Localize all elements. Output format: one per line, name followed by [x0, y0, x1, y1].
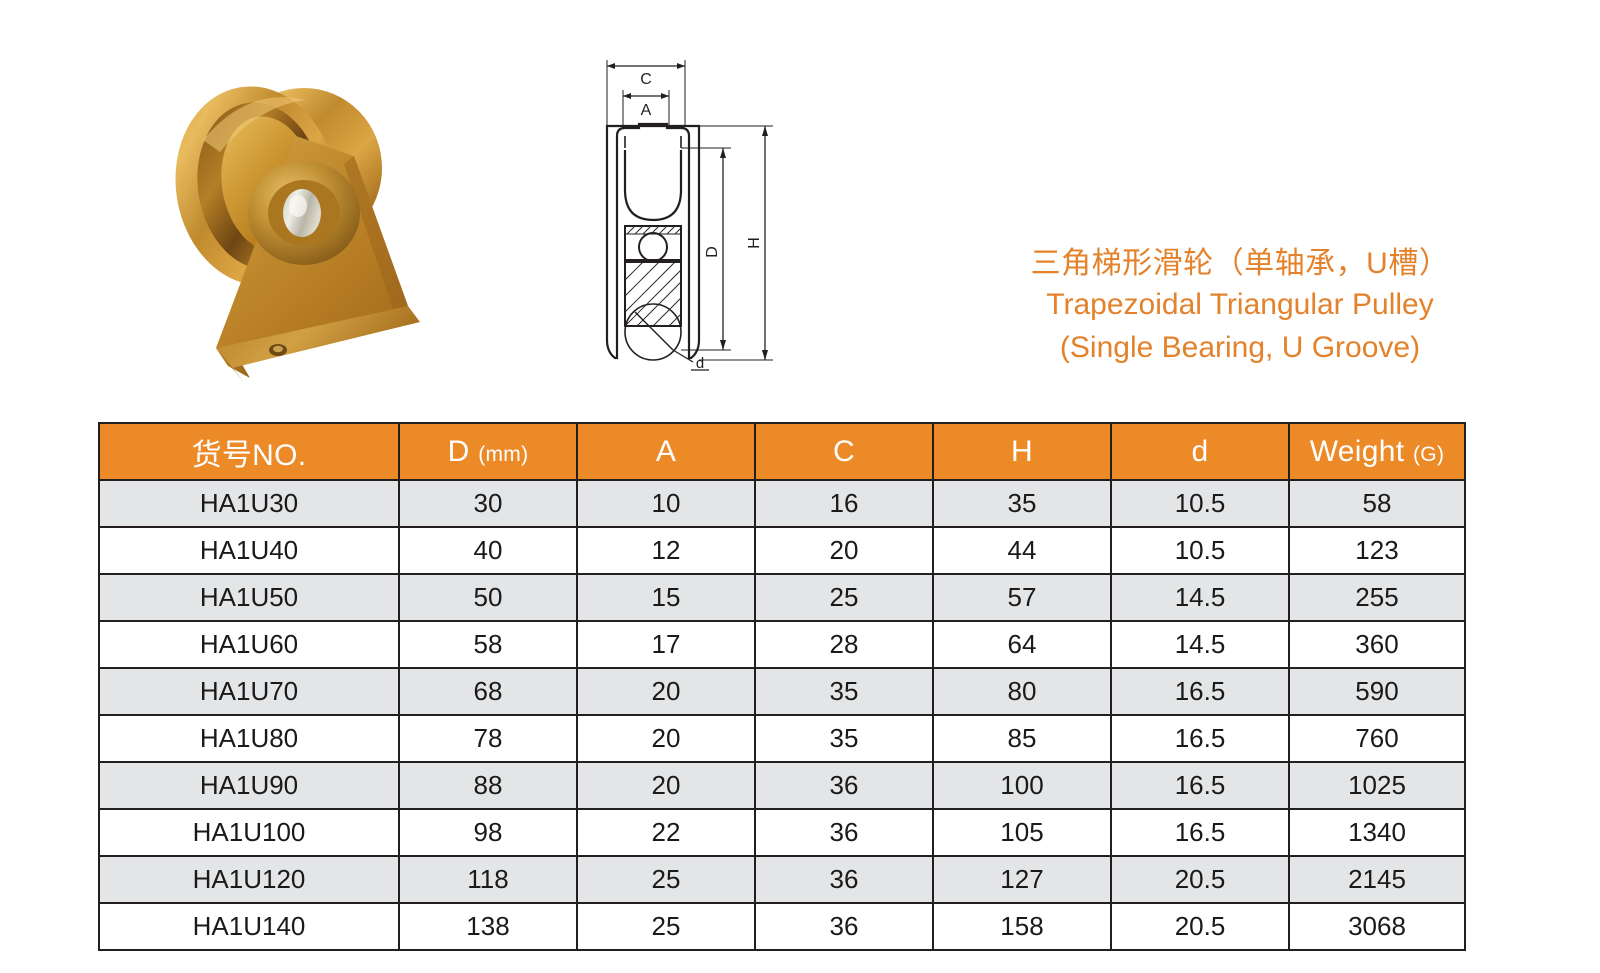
- cell-d: 16.5: [1111, 715, 1289, 762]
- dim-label-a: A: [641, 102, 652, 119]
- bore-circle: [625, 304, 681, 360]
- cell-weight: 1025: [1289, 762, 1465, 809]
- cell-A: 15: [577, 574, 755, 621]
- cell-weight: 360: [1289, 621, 1465, 668]
- cell-part-no: HA1U60: [99, 621, 399, 668]
- cell-d: 16.5: [1111, 668, 1289, 715]
- cell-H: 44: [933, 527, 1111, 574]
- technical-drawing: C A: [565, 40, 795, 395]
- product-title-block: 三角梯形滑轮（单轴承，U槽） Trapezoidal Triangular Pu…: [940, 243, 1540, 370]
- cell-H: 158: [933, 903, 1111, 950]
- cell-H: 85: [933, 715, 1111, 762]
- cell-H: 64: [933, 621, 1111, 668]
- cell-d: 20.5: [1111, 856, 1289, 903]
- c-arrow-right: [677, 63, 685, 69]
- hub-hatch-lines: [625, 262, 681, 326]
- dim-label-c: C: [640, 71, 652, 88]
- table-row: HA1U60 58 17 28 64 14.5 360: [99, 621, 1465, 668]
- d-arrow-top: [720, 148, 726, 158]
- bearing-outer-race: [625, 226, 681, 260]
- d-arrow-bottom: [720, 340, 726, 350]
- table-row: HA1U80 78 20 35 85 16.5 760: [99, 715, 1465, 762]
- col-header-D: D (mm): [399, 423, 577, 480]
- product-photo: [108, 48, 448, 388]
- ball-bearing: [639, 233, 667, 261]
- cell-D: 88: [399, 762, 577, 809]
- cell-part-no: HA1U120: [99, 856, 399, 903]
- c-arrow-left: [607, 63, 615, 69]
- product-title-english-line1: Trapezoidal Triangular Pulley: [940, 284, 1540, 327]
- cell-part-no: HA1U90: [99, 762, 399, 809]
- cell-C: 36: [755, 903, 933, 950]
- cell-C: 36: [755, 856, 933, 903]
- cell-H: 127: [933, 856, 1111, 903]
- cell-C: 35: [755, 668, 933, 715]
- cell-A: 25: [577, 856, 755, 903]
- cell-D: 30: [399, 480, 577, 527]
- table-body: HA1U30 30 10 16 35 10.5 58 HA1U40 40 12 …: [99, 480, 1465, 950]
- cell-H: 105: [933, 809, 1111, 856]
- cell-d: 20.5: [1111, 903, 1289, 950]
- groove-walls: [625, 136, 681, 148]
- mounting-hole-inner: [273, 346, 283, 352]
- cell-D: 68: [399, 668, 577, 715]
- cell-A: 25: [577, 903, 755, 950]
- col-header-d: d: [1111, 423, 1289, 480]
- cell-D: 138: [399, 903, 577, 950]
- cell-A: 20: [577, 762, 755, 809]
- cell-H: 35: [933, 480, 1111, 527]
- table-row: HA1U120 118 25 36 127 20.5 2145: [99, 856, 1465, 903]
- cell-part-no: HA1U30: [99, 480, 399, 527]
- product-title-english-line2: (Single Bearing, U Groove): [940, 327, 1540, 370]
- col-header-weight: Weight (G): [1289, 423, 1465, 480]
- cell-d: 10.5: [1111, 527, 1289, 574]
- cell-d: 14.5: [1111, 621, 1289, 668]
- cell-d: 16.5: [1111, 762, 1289, 809]
- cell-d: 16.5: [1111, 809, 1289, 856]
- cell-C: 36: [755, 762, 933, 809]
- table-row: HA1U70 68 20 35 80 16.5 590: [99, 668, 1465, 715]
- cell-D: 78: [399, 715, 577, 762]
- cell-A: 20: [577, 715, 755, 762]
- cell-D: 98: [399, 809, 577, 856]
- table-row: HA1U140 138 25 36 158 20.5 3068: [99, 903, 1465, 950]
- cell-part-no: HA1U40: [99, 527, 399, 574]
- table-header-row: 货号NO. D (mm) A C H d Weight (G): [99, 423, 1465, 480]
- col-header-part-no: 货号NO.: [99, 423, 399, 480]
- specification-table-container: 货号NO. D (mm) A C H d Weight (G) HA1U30 3…: [98, 422, 1464, 951]
- cell-C: 20: [755, 527, 933, 574]
- cell-part-no: HA1U80: [99, 715, 399, 762]
- a-arrow-right: [661, 93, 669, 99]
- cell-part-no: HA1U100: [99, 809, 399, 856]
- cell-C: 28: [755, 621, 933, 668]
- table-row: HA1U100 98 22 36 105 16.5 1340: [99, 809, 1465, 856]
- col-header-H: H: [933, 423, 1111, 480]
- col-header-C: C: [755, 423, 933, 480]
- dim-label-D: D: [704, 246, 721, 258]
- cell-H: 80: [933, 668, 1111, 715]
- cell-D: 50: [399, 574, 577, 621]
- cell-weight: 760: [1289, 715, 1465, 762]
- cell-A: 12: [577, 527, 755, 574]
- cell-C: 16: [755, 480, 933, 527]
- cell-A: 20: [577, 668, 755, 715]
- table-row: HA1U40 40 12 20 44 10.5 123: [99, 527, 1465, 574]
- cell-D: 58: [399, 621, 577, 668]
- cell-d: 14.5: [1111, 574, 1289, 621]
- cell-C: 35: [755, 715, 933, 762]
- dim-label-d: d: [696, 355, 704, 372]
- cell-C: 25: [755, 574, 933, 621]
- cell-A: 22: [577, 809, 755, 856]
- cell-part-no: HA1U140: [99, 903, 399, 950]
- cell-weight: 1340: [1289, 809, 1465, 856]
- product-overview-section: C A: [0, 0, 1600, 412]
- bore-diameter-slash: [635, 312, 673, 350]
- u-groove-arc: [625, 150, 681, 220]
- wheel-inner-contour: [617, 136, 689, 358]
- cell-C: 36: [755, 809, 933, 856]
- a-arrow-left: [623, 93, 631, 99]
- cell-weight: 58: [1289, 480, 1465, 527]
- cell-part-no: HA1U50: [99, 574, 399, 621]
- cell-d: 10.5: [1111, 480, 1289, 527]
- cell-D: 118: [399, 856, 577, 903]
- wheel-outer-contour: [607, 124, 699, 358]
- h-arrow-top: [762, 126, 768, 136]
- cell-weight: 590: [1289, 668, 1465, 715]
- cell-H: 57: [933, 574, 1111, 621]
- table-row: HA1U30 30 10 16 35 10.5 58: [99, 480, 1465, 527]
- cell-part-no: HA1U70: [99, 668, 399, 715]
- axle-pin-highlight: [289, 195, 307, 217]
- cell-weight: 2145: [1289, 856, 1465, 903]
- cell-weight: 255: [1289, 574, 1465, 621]
- h-arrow-bottom: [762, 350, 768, 360]
- cell-A: 10: [577, 480, 755, 527]
- cell-D: 40: [399, 527, 577, 574]
- cell-A: 17: [577, 621, 755, 668]
- table-row: HA1U90 88 20 36 100 16.5 1025: [99, 762, 1465, 809]
- col-header-A: A: [577, 423, 755, 480]
- cell-weight: 3068: [1289, 903, 1465, 950]
- table-row: HA1U50 50 15 25 57 14.5 255: [99, 574, 1465, 621]
- cell-H: 100: [933, 762, 1111, 809]
- specification-table: 货号NO. D (mm) A C H d Weight (G) HA1U30 3…: [98, 422, 1466, 951]
- dim-label-H: H: [746, 237, 763, 249]
- cell-weight: 123: [1289, 527, 1465, 574]
- product-title-chinese: 三角梯形滑轮（单轴承，U槽）: [940, 243, 1540, 284]
